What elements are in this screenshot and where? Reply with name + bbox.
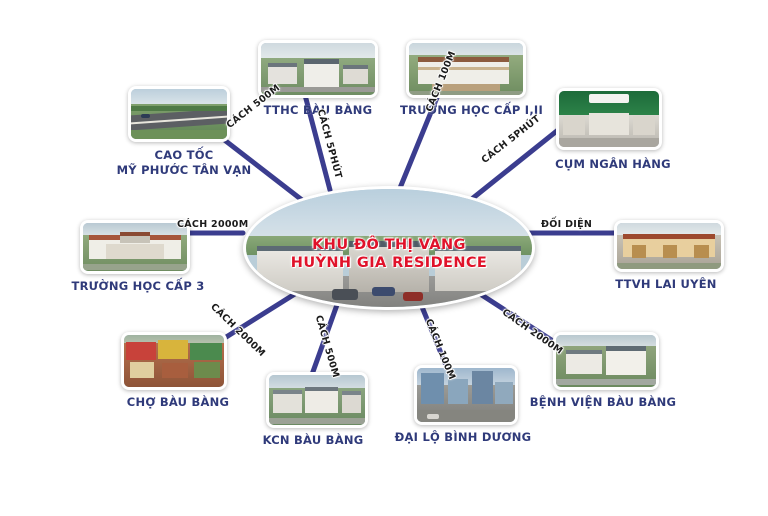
node-kcn-bau-bang[interactable]: KCN BÀU BÀNG xyxy=(248,372,378,447)
thumb-cum-ngan-hang xyxy=(556,88,662,150)
thumb-cho-bau-bang xyxy=(121,332,227,390)
thumb-benh-vien-bau-bang xyxy=(553,332,659,390)
thumb-cao-toc-my-phuoc-tan-van xyxy=(128,86,230,142)
distance-truong-hoc-cap-3: CÁCH 2000M xyxy=(177,219,248,230)
node-cao-toc-my-phuoc-tan-van[interactable]: CAO TỐC MỸ PHƯỚC TÂN VẠN xyxy=(100,86,268,178)
label-truong-hoc-cap-3: TRƯỜNG HỌC CẤP 3 xyxy=(58,279,218,293)
label-dai-lo-binh-duong: ĐẠI LỘ BÌNH DƯƠNG xyxy=(388,430,538,444)
label-truong-hoc-cap-1-2: TRƯỜNG HỌC CẤP I,II xyxy=(400,103,526,117)
node-tthc-bau-bang[interactable]: TTHC BÀU BÀNG xyxy=(258,40,378,117)
thumb-truong-hoc-cap-1-2 xyxy=(406,40,526,98)
thumb-kcn-bau-bang xyxy=(266,372,368,428)
center-title: KHU ĐÔ THỊ VÀNG HUỲNH GIA RESIDENCE xyxy=(246,236,532,272)
thumb-dai-lo-binh-duong xyxy=(414,365,518,425)
center-title-line2: HUỲNH GIA RESIDENCE xyxy=(246,254,532,272)
center-photo: KHU ĐÔ THỊ VÀNG HUỲNH GIA RESIDENCE xyxy=(243,186,535,310)
label-cao-toc-line2: MỸ PHƯỚC TÂN VẠN xyxy=(100,163,268,178)
label-ttvh-lai-uyen: TTVH LAI UYÊN xyxy=(596,277,736,291)
node-dai-lo-binh-duong[interactable]: ĐẠI LỘ BÌNH DƯƠNG xyxy=(388,365,538,444)
label-kcn-bau-bang: KCN BÀU BÀNG xyxy=(248,433,378,447)
center-title-line1: KHU ĐÔ THỊ VÀNG xyxy=(246,236,532,254)
label-cao-toc-line1: CAO TỐC xyxy=(100,148,268,163)
label-cho-bau-bang: CHỢ BÀU BÀNG xyxy=(108,395,248,409)
thumb-truong-hoc-cap-3 xyxy=(80,220,190,274)
node-truong-hoc-cap-3[interactable]: TRƯỜNG HỌC CẤP 3 xyxy=(58,220,218,293)
center-hub[interactable]: KHU ĐÔ THỊ VÀNG HUỲNH GIA RESIDENCE xyxy=(243,186,529,304)
node-truong-hoc-cap-1-2[interactable]: TRƯỜNG HỌC CẤP I,II xyxy=(400,40,526,117)
node-cho-bau-bang[interactable]: CHỢ BÀU BÀNG xyxy=(108,332,248,409)
distance-ttvh-lai-uyen: ĐỐI DIỆN xyxy=(541,219,592,230)
thumb-ttvh-lai-uyen xyxy=(614,220,724,272)
infographic-canvas: KHU ĐÔ THỊ VÀNG HUỲNH GIA RESIDENCE TTHC… xyxy=(0,0,768,516)
node-ttvh-lai-uyen[interactable]: TTVH LAI UYÊN xyxy=(596,220,736,291)
label-cum-ngan-hang: CỤM NGÂN HÀNG xyxy=(548,157,678,171)
label-cao-toc-my-phuoc-tan-van: CAO TỐC MỸ PHƯỚC TÂN VẠN xyxy=(100,148,268,178)
node-cum-ngan-hang[interactable]: CỤM NGÂN HÀNG xyxy=(548,88,678,171)
